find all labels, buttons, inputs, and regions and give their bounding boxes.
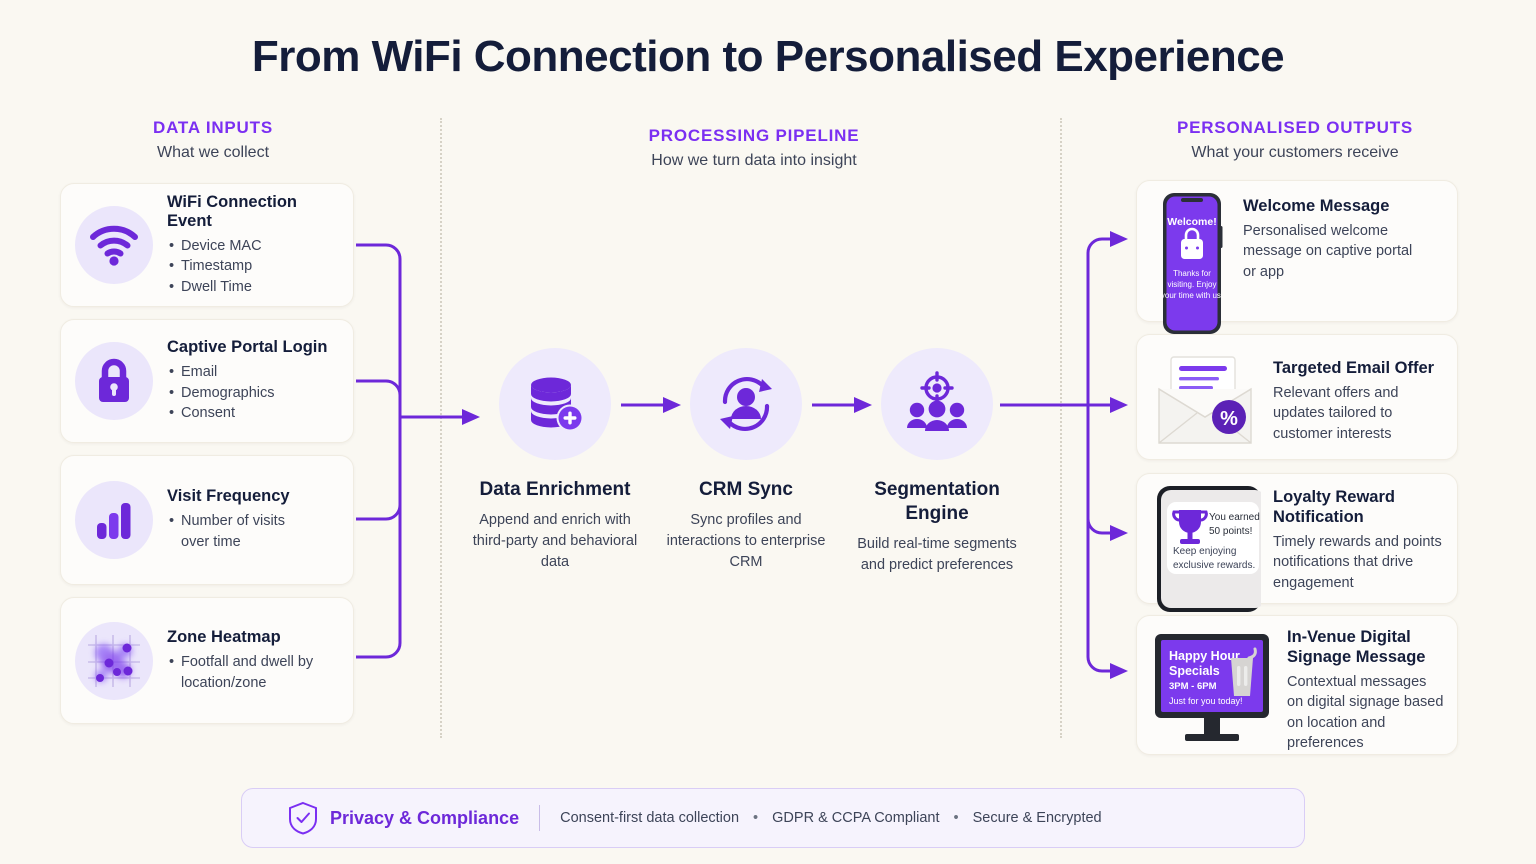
input-card-title: WiFi Connection Event xyxy=(167,193,339,231)
sync-user-icon xyxy=(690,348,802,460)
list-item: Device MAC xyxy=(167,236,339,257)
output-card-loyalty-reward[interactable]: You earned 50 points! Keep enjoying excl… xyxy=(1136,473,1458,604)
output-card-digital-signage[interactable]: Happy Hour Specials 3PM - 6PM Just for y… xyxy=(1136,615,1458,755)
percent-badge: % xyxy=(1220,408,1238,430)
column-sub-inputs: What we collect xyxy=(63,144,363,162)
list-item: Consent xyxy=(167,403,327,424)
column-sub-outputs: What your customers receive xyxy=(1095,144,1495,162)
column-kicker-outputs: PERSONALISED OUTPUTS xyxy=(1095,118,1495,138)
wifi-icon xyxy=(75,206,153,284)
footer-bullet: • xyxy=(753,810,758,826)
input-card-captive-portal[interactable]: Captive Portal Login Email Demographics … xyxy=(60,319,354,443)
database-plus-icon xyxy=(499,348,611,460)
input-card-title: Zone Heatmap xyxy=(167,628,327,647)
output-card-title: Loyalty Reward Notification xyxy=(1273,488,1433,528)
svg-text:your time with us.: your time with us. xyxy=(1161,291,1223,300)
column-header-pipeline: PROCESSING PIPELINE How we turn data int… xyxy=(554,126,954,170)
column-header-outputs: PERSONALISED OUTPUTS What your customers… xyxy=(1095,118,1495,162)
list-item: Demographics xyxy=(167,383,327,404)
output-card-title: In-Venue Digital Signage Message xyxy=(1287,628,1445,668)
footer-item: Secure & Encrypted xyxy=(973,810,1102,826)
page-title: From WiFi Connection to Personalised Exp… xyxy=(0,32,1536,82)
svg-text:Happy Hour: Happy Hour xyxy=(1169,649,1240,663)
list-item: Email xyxy=(167,362,327,383)
phone-welcome-mockup: Welcome! Thanks for visiting. Enjoy your… xyxy=(1149,191,1231,336)
footer-item: GDPR & CCPA Compliant xyxy=(772,810,939,826)
privacy-compliance-label: Privacy & Compliance xyxy=(330,808,519,829)
output-card-welcome-message[interactable]: Welcome! Thanks for visiting. Enjoy your… xyxy=(1136,180,1458,322)
input-card-title: Visit Frequency xyxy=(167,487,317,506)
output-card-desc: Relevant offers and updates tailored to … xyxy=(1273,383,1445,445)
input-card-list: Email Demographics Consent xyxy=(167,362,327,424)
column-kicker-pipeline: PROCESSING PIPELINE xyxy=(554,126,954,146)
bar-chart-icon xyxy=(75,481,153,559)
footer-bullet: • xyxy=(954,810,959,826)
column-header-inputs: DATA INPUTS What we collect xyxy=(63,118,363,162)
phone-loyalty-mockup: You earned 50 points! Keep enjoying excl… xyxy=(1149,484,1261,612)
pipeline-node-title: Segmentation Engine xyxy=(872,478,1002,526)
list-item: Number of visits over time xyxy=(167,511,317,552)
input-card-list: Number of visits over time xyxy=(167,511,317,552)
input-card-list: Device MAC Timestamp Dwell Time xyxy=(167,236,339,298)
output-card-targeted-email-offer[interactable]: % Targeted Email Offer Relevant offers a… xyxy=(1136,334,1458,460)
pipeline-node-desc: Append and enrich with third-party and b… xyxy=(465,510,645,573)
input-card-wifi[interactable]: WiFi Connection Event Device MAC Timesta… xyxy=(60,183,354,307)
svg-text:You earned: You earned xyxy=(1209,512,1260,523)
monitor-signage-mockup: Happy Hour Specials 3PM - 6PM Just for y… xyxy=(1149,626,1275,752)
divider-left xyxy=(440,118,442,738)
svg-text:exclusive rewards.: exclusive rewards. xyxy=(1173,560,1255,571)
pipeline-node-title: Data Enrichment xyxy=(465,478,645,502)
output-card-title: Targeted Email Offer xyxy=(1273,359,1445,379)
pipeline-node-title: CRM Sync xyxy=(656,478,836,502)
footer-item: Consent-first data collection xyxy=(560,810,739,826)
output-card-desc: Timely rewards and points notifications … xyxy=(1273,532,1445,594)
list-item: Footfall and dwell by location/zone xyxy=(167,652,327,693)
input-card-zone-heatmap[interactable]: Zone Heatmap Footfall and dwell by locat… xyxy=(60,597,354,724)
pipeline-node-data-enrichment[interactable]: Data Enrichment Append and enrich with t… xyxy=(465,348,645,573)
output-card-desc: Contextual messages on digital signage b… xyxy=(1287,672,1445,754)
pipeline-node-desc: Build real-time segments and predict pre… xyxy=(847,534,1027,576)
svg-text:Just for you today!: Just for you today! xyxy=(1169,696,1243,706)
column-kicker-inputs: DATA INPUTS xyxy=(63,118,363,138)
privacy-compliance-bar: Privacy & Compliance Consent-first data … xyxy=(241,788,1305,848)
svg-text:Thanks for: Thanks for xyxy=(1173,269,1211,278)
pipeline-node-crm-sync[interactable]: CRM Sync Sync profiles and interactions … xyxy=(656,348,836,573)
input-card-title: Captive Portal Login xyxy=(167,338,327,357)
svg-text:visiting. Enjoy: visiting. Enjoy xyxy=(1168,280,1217,289)
svg-text:3PM - 6PM: 3PM - 6PM xyxy=(1169,681,1217,692)
svg-text:50 points!: 50 points! xyxy=(1209,526,1252,537)
list-item: Dwell Time xyxy=(167,277,339,298)
lock-icon xyxy=(75,342,153,420)
svg-text:Welcome!: Welcome! xyxy=(1167,216,1216,228)
heatmap-icon xyxy=(75,622,153,700)
target-audience-icon xyxy=(881,348,993,460)
list-item: Timestamp xyxy=(167,256,339,277)
footer-divider xyxy=(539,805,540,831)
divider-right xyxy=(1060,118,1062,738)
shield-check-icon xyxy=(288,801,318,835)
pipeline-node-desc: Sync profiles and interactions to enterp… xyxy=(656,510,836,573)
footer-items: Consent-first data collection • GDPR & C… xyxy=(560,810,1102,826)
input-card-visit-frequency[interactable]: Visit Frequency Number of visits over ti… xyxy=(60,455,354,585)
svg-text:Specials: Specials xyxy=(1169,664,1220,678)
email-offer-mockup: % xyxy=(1149,345,1261,455)
column-sub-pipeline: How we turn data into insight xyxy=(554,152,954,170)
output-card-desc: Personalised welcome message on captive … xyxy=(1243,221,1415,283)
input-card-list: Footfall and dwell by location/zone xyxy=(167,652,327,693)
output-card-title: Welcome Message xyxy=(1243,197,1415,217)
svg-text:Keep enjoying: Keep enjoying xyxy=(1173,546,1236,557)
pipeline-node-segmentation-engine[interactable]: Segmentation Engine Build real-time segm… xyxy=(847,348,1027,576)
